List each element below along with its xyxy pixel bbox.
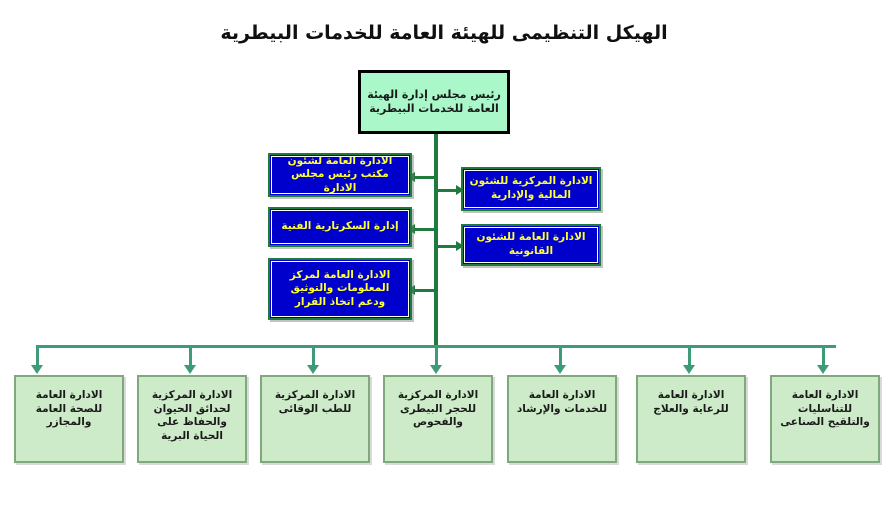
department-node-2[interactable]: الادارة المركزية لحدائق الحيوان والحفاظ …: [137, 375, 247, 463]
department-node-4[interactable]: الادارة المركزية للحجر البيطرى والفحوص: [383, 375, 493, 463]
department-node-3-label: الادارة المركزية للطب الوقائى: [268, 389, 362, 416]
department-node-7-label: الادارة العامة للتناسليات والتلقيح الصنا…: [778, 389, 872, 430]
staff-node-right-2-label: الادارة العامة للشئون القانونية: [469, 231, 593, 258]
department-node-6[interactable]: الادارة العامة للرعاية والعلاج: [636, 375, 746, 463]
drop-department-4: [435, 345, 438, 367]
drop-department-2: [189, 345, 192, 367]
department-node-1-label: الادارة العامة للصحة العامة والمجازر: [22, 389, 116, 430]
staff-node-right-1[interactable]: الادارة المركزية للشئون المالية والإداري…: [461, 167, 601, 211]
department-node-4-label: الادارة المركزية للحجر البيطرى والفحوص: [391, 389, 485, 430]
department-node-1[interactable]: الادارة العامة للصحة العامة والمجازر: [14, 375, 124, 463]
trunk-vertical-main: [434, 134, 438, 346]
arrow-down-3-icon: [307, 365, 319, 374]
staff-node-left-1-label: الادارة العامة لشئون مكتب رئيس مجلس الاد…: [276, 155, 404, 196]
arrow-down-2-icon: [184, 365, 196, 374]
org-chart-canvas: الهيكل التنظيمى للهيئة العامة للخدمات ال…: [0, 0, 888, 522]
drop-department-3: [312, 345, 315, 367]
arrow-down-1-icon: [31, 365, 43, 374]
drop-department-7: [822, 345, 825, 367]
department-node-5-label: الادارة العامة للخدمات والإرشاد: [515, 389, 609, 416]
staff-node-left-2[interactable]: إدارة السكرتارية الفنية: [268, 207, 412, 247]
root-node-chairman[interactable]: رئيس مجلس إدارة الهيئة العامة للخدمات ال…: [358, 70, 510, 134]
page-title: الهيكل التنظيمى للهيئة العامة للخدمات ال…: [0, 22, 888, 44]
department-node-5[interactable]: الادارة العامة للخدمات والإرشاد: [507, 375, 617, 463]
connector-root-to-left-2: [415, 228, 437, 231]
staff-node-right-1-label: الادارة المركزية للشئون المالية والإداري…: [469, 175, 593, 202]
arrow-down-7-icon: [817, 365, 829, 374]
department-node-2-label: الادارة المركزية لحدائق الحيوان والحفاظ …: [145, 389, 239, 444]
staff-node-right-2[interactable]: الادارة العامة للشئون القانونية: [461, 224, 601, 266]
connector-root-to-left-1: [415, 176, 437, 179]
root-node-label: رئيس مجلس إدارة الهيئة العامة للخدمات ال…: [366, 88, 502, 117]
arrow-down-5-icon: [554, 365, 566, 374]
arrow-down-4-icon: [430, 365, 442, 374]
drop-department-5: [559, 345, 562, 367]
drop-department-1: [36, 345, 39, 367]
department-node-7[interactable]: الادارة العامة للتناسليات والتلقيح الصنا…: [770, 375, 880, 463]
staff-node-left-2-label: إدارة السكرتارية الفنية: [281, 220, 398, 234]
department-node-6-label: الادارة العامة للرعاية والعلاج: [644, 389, 738, 416]
staff-node-left-3-label: الادارة العامة لمركز المعلومات والتوثيق …: [276, 269, 404, 310]
arrow-down-6-icon: [683, 365, 695, 374]
department-node-3[interactable]: الادارة المركزية للطب الوقائى: [260, 375, 370, 463]
drop-department-6: [688, 345, 691, 367]
connector-root-to-left-3: [415, 289, 437, 292]
staff-node-left-3[interactable]: الادارة العامة لمركز المعلومات والتوثيق …: [268, 258, 412, 320]
staff-node-left-1[interactable]: الادارة العامة لشئون مكتب رئيس مجلس الاد…: [268, 153, 412, 197]
